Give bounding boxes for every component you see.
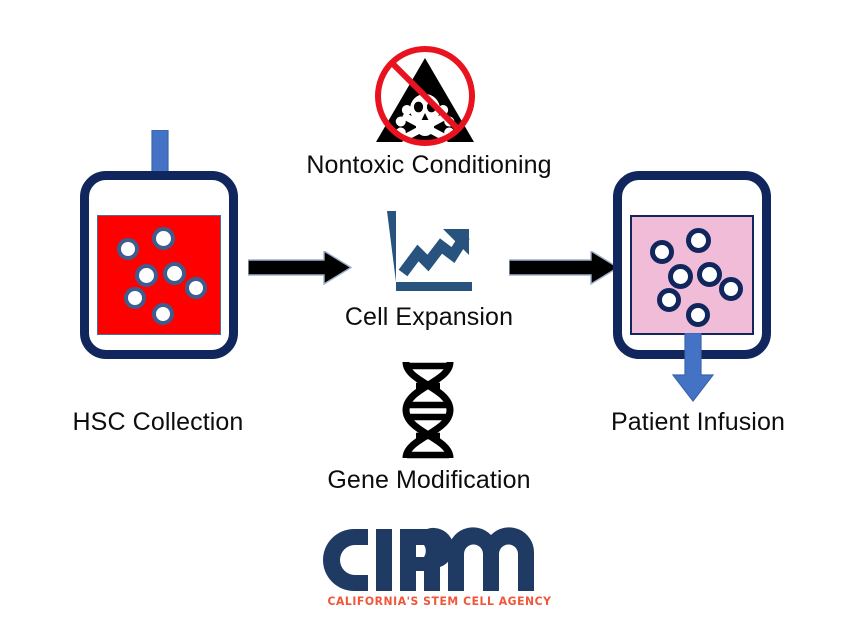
no-toxic-skull-icon [370,44,480,148]
stem-cell [719,277,743,301]
stem-cell [697,262,722,287]
stem-cell [163,262,186,285]
flow-arrow-1 [248,251,352,285]
stem-cell [668,264,693,289]
stem-cell [185,277,207,299]
diagram-canvas: HSC Collection [0,0,858,643]
hsc-collection-label: HSC Collection [0,408,316,437]
stem-cell [686,228,711,253]
cirm-wordmark-icon [321,527,536,593]
cirm-tagline: CALIFORNIA'S STEM CELL AGENCY [327,594,529,608]
stem-cell [117,238,139,260]
growth-chart-icon [381,203,473,295]
stem-cell [152,227,175,250]
stem-cell [135,264,158,287]
stem-cell [650,240,674,264]
gene-modification-label: Gene Modification [0,466,858,495]
stem-cell [686,303,710,327]
outflow-arrow [671,333,715,403]
patient-infusion-label: Patient Infusion [540,408,856,437]
cirm-logo: CALIFORNIA'S STEM CELL AGENCY [321,527,536,617]
stem-cell [657,288,681,312]
dna-helix-icon [396,360,460,460]
flow-arrow-2 [509,251,619,285]
